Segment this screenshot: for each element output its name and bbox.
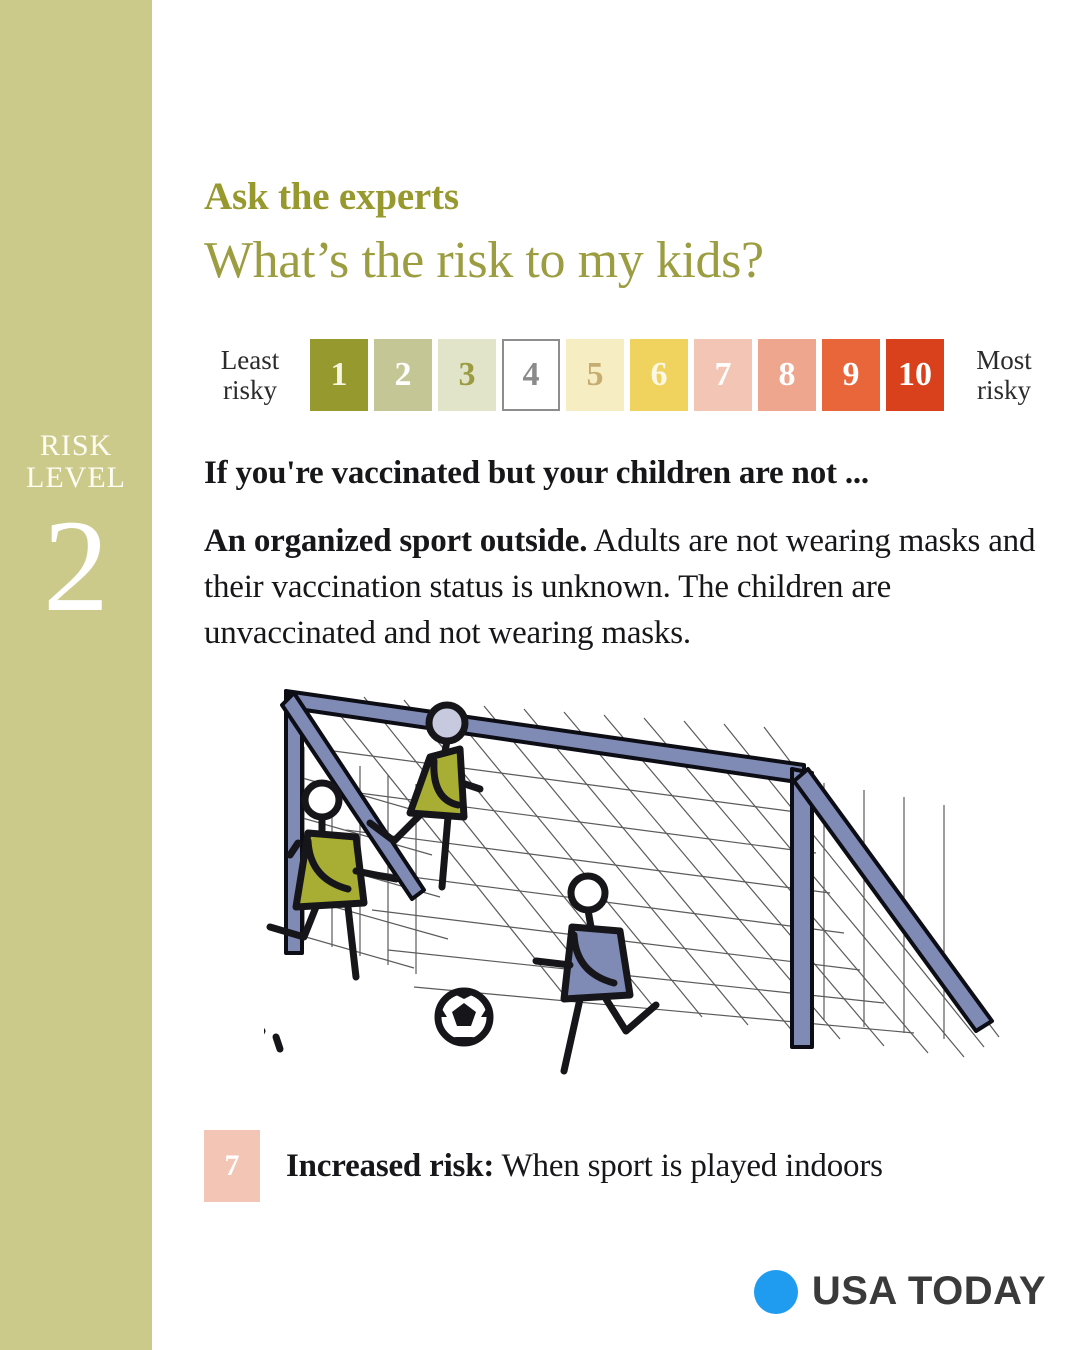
risk-scale-box-5[interactable]: 5 (566, 339, 624, 411)
risk-scale-box-label: 8 (779, 356, 796, 394)
risk-scale-box-8[interactable]: 8 (758, 339, 816, 411)
risk-scale-box-4[interactable]: 4 (502, 339, 560, 411)
soccer-ball (438, 991, 490, 1043)
risk-scale-box-label: 2 (395, 356, 412, 394)
risk-scale-box-10[interactable]: 10 (886, 339, 944, 411)
risk-scale-box-label: 9 (843, 356, 860, 394)
usa-today-logo: USA TODAY (754, 1269, 1046, 1314)
risk-scale: Least risky 12345678910 Most risky (204, 337, 1064, 413)
risk-scale-box-6[interactable]: 6 (630, 339, 688, 411)
risk-label-line2: LEVEL (0, 462, 152, 494)
usa-today-dot-icon (754, 1270, 798, 1314)
increased-risk-badge: 7 (204, 1130, 260, 1202)
increased-risk-detail: When sport is played indoors (494, 1148, 883, 1184)
soccer-illustration (264, 665, 1064, 1095)
figure-right-leg-kick (606, 999, 656, 1031)
risk-scale-box-7[interactable]: 7 (694, 339, 752, 411)
risk-scale-box-2[interactable]: 2 (374, 339, 432, 411)
main-content: Ask the experts What’s the risk to my ki… (204, 0, 1064, 1350)
risk-level-rail: RISK LEVEL 2 (0, 0, 152, 1350)
figure-middle-leg-front (442, 817, 448, 887)
figure-right-leg-stand (564, 999, 580, 1071)
figure-left-leg-front (348, 907, 356, 977)
figure-right-head (571, 876, 605, 910)
risk-scale-box-label: 4 (523, 356, 540, 394)
risk-scale-boxes: 12345678910 (310, 339, 944, 411)
risk-scale-box-label: 5 (587, 356, 604, 394)
risk-scale-box-label: 6 (651, 356, 668, 394)
motion-marks-lower (264, 1031, 280, 1049)
scenario-bold: An organized sport outside. (204, 523, 587, 559)
risk-level-number: 2 (0, 502, 152, 630)
risk-scale-box-3[interactable]: 3 (438, 339, 496, 411)
usa-today-wordmark: USA TODAY (812, 1269, 1046, 1314)
scale-least-label: Least risky (204, 345, 296, 405)
risk-scale-box-label: 3 (459, 356, 476, 394)
kicker-text: Ask the experts (204, 175, 459, 219)
increased-risk-text: Increased risk: When sport is played ind… (286, 1148, 883, 1185)
risk-scale-box-label: 10 (898, 356, 932, 394)
scale-most-label: Most risky (958, 345, 1050, 405)
goal-crossbar (286, 691, 804, 783)
goal-post-right (792, 769, 812, 1047)
soccer-scene-svg (264, 665, 1064, 1095)
risk-scale-box-label: 1 (331, 356, 348, 394)
risk-label-line1: RISK (0, 430, 152, 462)
risk-level-stack: RISK LEVEL 2 (0, 430, 152, 630)
risk-scale-box-label: 7 (715, 356, 732, 394)
risk-scale-box-1[interactable]: 1 (310, 339, 368, 411)
risk-scale-box-9[interactable]: 9 (822, 339, 880, 411)
figure-middle-head (429, 705, 465, 741)
scenario-paragraph: An organized sport outside. Adults are n… (204, 518, 1052, 656)
lead-statement: If you're vaccinated but your children a… (204, 455, 869, 492)
figure-right-arm (536, 961, 570, 965)
page-title: What’s the risk to my kids? (204, 230, 764, 292)
increased-risk-label: Increased risk: (286, 1148, 494, 1184)
figure-left-head (305, 783, 339, 817)
stick-figure-right (536, 876, 656, 1071)
increased-risk-note: 7 Increased risk: When sport is played i… (204, 1130, 883, 1202)
